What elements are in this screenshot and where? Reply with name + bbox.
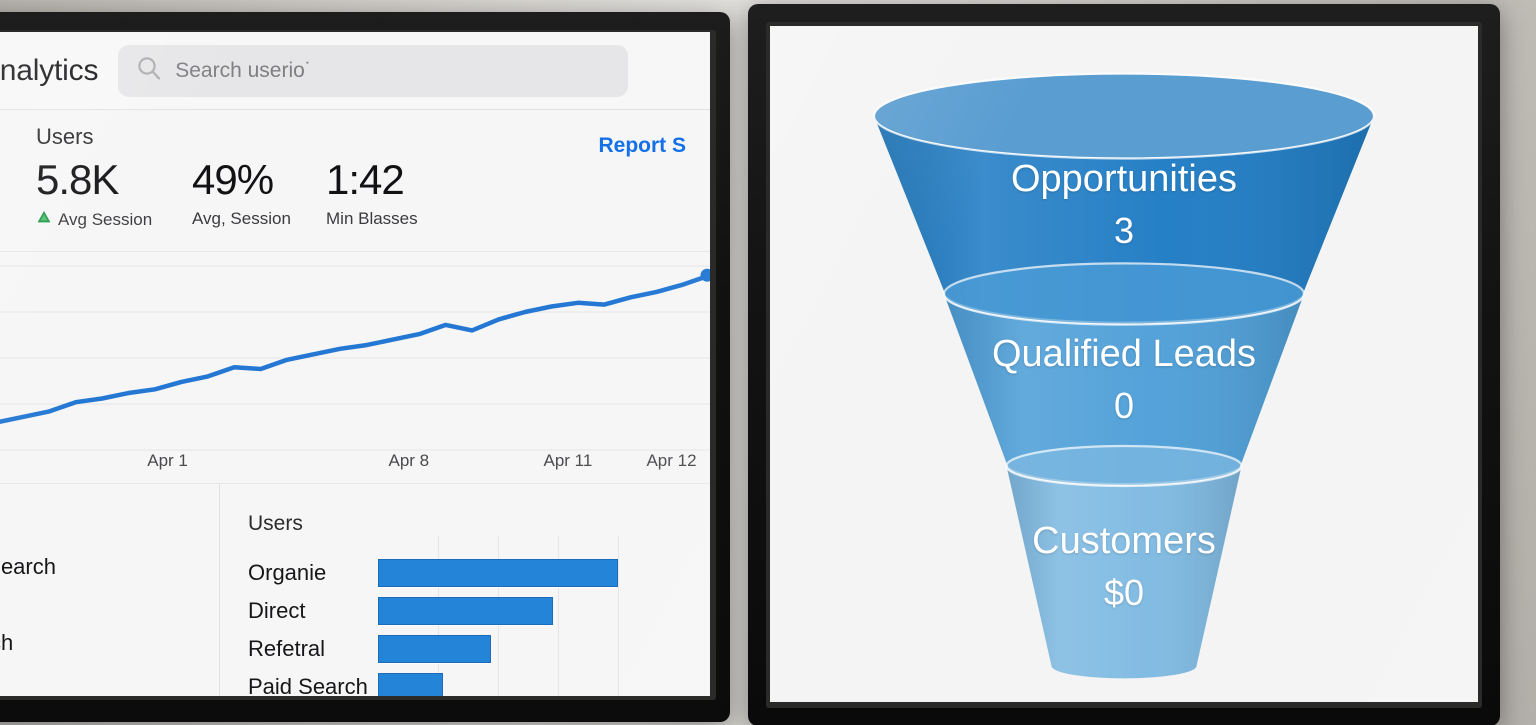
monitor-left: Analytics Search userio˙ ers 000 bbox=[0, 12, 730, 722]
search-input[interactable]: Search userio˙ bbox=[118, 45, 628, 97]
funnel-stage-3[interactable]: Customers$0 bbox=[770, 520, 1478, 616]
metric-value: 5.8K bbox=[36, 154, 192, 205]
metric-head: Users bbox=[36, 124, 192, 154]
bar-chart-row[interactable]: Organie bbox=[248, 554, 690, 592]
x-axis-tick-label: Apr 11 bbox=[543, 451, 592, 471]
metric-subtitle-text: Avg Session bbox=[58, 210, 152, 230]
bar-chart-row[interactable]: Refetral bbox=[248, 630, 690, 668]
bar-fill bbox=[378, 673, 443, 696]
bar-chart-header: Users bbox=[248, 512, 690, 554]
bar-track bbox=[378, 672, 690, 696]
metric-value: 1:42 bbox=[326, 154, 476, 205]
metric-subtitle-text: Min Blasses bbox=[326, 209, 418, 229]
x-axis-tick-label: Apr 12 bbox=[646, 451, 696, 471]
app-topbar: Analytics Search userio˙ bbox=[0, 32, 710, 110]
users-bar-chart: Users OrganieDirectRefetralPaid Search bbox=[220, 484, 710, 696]
line-chart-canvas bbox=[0, 252, 710, 458]
funnel-stage-label: Qualified Leads bbox=[770, 333, 1478, 376]
metric-subtitle: Min Blasses bbox=[326, 209, 476, 229]
metric-card-session-time: 1:42 Min Blasses bbox=[326, 124, 476, 229]
funnel-stage-label: Opportunities bbox=[770, 158, 1478, 201]
funnel-stage-value: $0 bbox=[770, 572, 1478, 614]
metric-value: 000 bbox=[0, 154, 36, 205]
funnel-stage-1[interactable]: Opportunities3 bbox=[770, 158, 1478, 254]
list-item[interactable]: organic Search bbox=[0, 554, 219, 592]
funnel-stage-value: 3 bbox=[770, 210, 1478, 252]
line-chart-x-axis: r30Apr 1Apr 8Apr 11Apr 12 bbox=[0, 451, 710, 477]
monitor-left-screen: Analytics Search userio˙ ers 000 bbox=[0, 32, 710, 696]
bar-category-label: Direct bbox=[248, 598, 378, 624]
metric-head bbox=[326, 124, 476, 154]
metric-subtitle-text: Avg, Session bbox=[192, 209, 291, 229]
source-list: anpics organic Search tirect aid Search bbox=[0, 484, 220, 696]
metric-head bbox=[192, 124, 326, 154]
list-item[interactable]: aid Search bbox=[0, 630, 219, 668]
bottom-section: anpics organic Search tirect aid Search … bbox=[0, 484, 710, 696]
page-title: Analytics bbox=[0, 54, 98, 88]
x-axis-tick-label: Apr 8 bbox=[388, 451, 429, 471]
bar-category-label: Paid Search bbox=[248, 674, 378, 696]
monitor-right: Opportunities3Qualified Leads0Customers$… bbox=[748, 4, 1500, 725]
search-icon bbox=[136, 55, 162, 86]
x-axis-tick-label: Apr 1 bbox=[147, 451, 188, 471]
bar-fill bbox=[378, 597, 553, 625]
metric-subtitle: Bounce bbox=[0, 209, 36, 229]
metric-card-users: Users 5.8K Avg Session bbox=[36, 124, 192, 230]
report-settings-link[interactable]: Report S bbox=[598, 134, 686, 158]
search-placeholder-text: Search userio˙ bbox=[175, 59, 312, 83]
metric-card-bounce-rate: 49% Avg, Session bbox=[192, 124, 326, 229]
metric-subtitle: Avg Session bbox=[36, 209, 192, 230]
bar-category-label: Organie bbox=[248, 560, 378, 586]
bar-track bbox=[378, 558, 690, 588]
bar-category-label: Refetral bbox=[248, 636, 378, 662]
metrics-row: ers 000 Bounce Users 5.8K bbox=[0, 110, 710, 252]
source-list-header: anpics bbox=[0, 512, 219, 554]
list-item[interactable]: tirect bbox=[0, 592, 219, 630]
bar-track bbox=[378, 634, 690, 664]
metric-value: 49% bbox=[192, 154, 326, 205]
bar-chart-rows: OrganieDirectRefetralPaid Search bbox=[248, 554, 690, 696]
bar-chart-row[interactable]: Direct bbox=[248, 592, 690, 630]
bar-fill bbox=[378, 559, 618, 587]
trend-up-icon bbox=[36, 209, 52, 230]
analytics-app: Analytics Search userio˙ ers 000 bbox=[0, 32, 710, 696]
metric-card-bounce: ers 000 Bounce bbox=[0, 124, 36, 229]
funnel-stage-label: Customers bbox=[770, 520, 1478, 563]
metric-subtitle: Avg, Session bbox=[192, 209, 326, 229]
funnel-stage-2[interactable]: Qualified Leads0 bbox=[770, 333, 1478, 429]
bar-chart-row[interactable]: Paid Search bbox=[248, 668, 690, 696]
metric-head: ers bbox=[0, 124, 36, 154]
bar-fill bbox=[378, 635, 491, 663]
users-line-chart: r30Apr 1Apr 8Apr 11Apr 12 bbox=[0, 252, 710, 484]
funnel-stage-value: 0 bbox=[770, 385, 1478, 427]
bar-track bbox=[378, 596, 690, 626]
sales-funnel-chart: Opportunities3Qualified Leads0Customers$… bbox=[770, 26, 1478, 702]
funnel-labels-layer: Opportunities3Qualified Leads0Customers$… bbox=[770, 26, 1478, 702]
monitor-right-screen: Opportunities3Qualified Leads0Customers$… bbox=[770, 26, 1478, 702]
